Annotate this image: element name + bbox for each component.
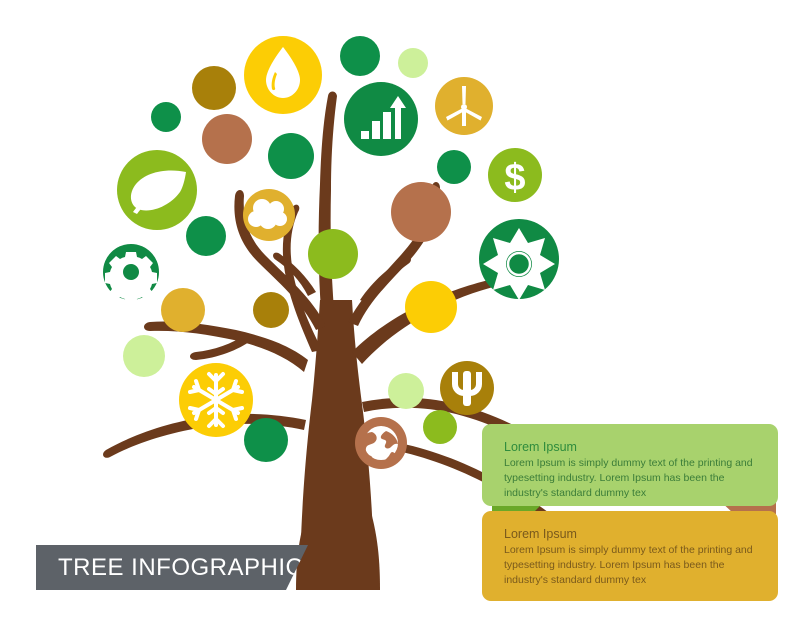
gear-icon — [105, 252, 157, 304]
circle-green-dot-left — [151, 102, 181, 132]
icon-circle-gear — [103, 244, 159, 304]
callout-green-body: Lorem Ipsum is simply dummy text of the … — [504, 456, 756, 501]
icon-circle-growth-chart — [344, 82, 418, 156]
dollar-icon: $ — [504, 157, 525, 199]
circle-olive-center — [308, 229, 358, 279]
circle-green-dot-left-mid — [186, 216, 226, 256]
circle-pale-green-top — [398, 48, 428, 78]
circle-gold-left — [161, 288, 205, 332]
title-banner: TREE INFOGRAPHIC — [36, 545, 308, 590]
icon-circle-water-drop — [244, 36, 322, 114]
icon-circle-snowflake — [179, 363, 253, 437]
title-banner-label: TREE INFOGRAPHIC — [36, 554, 303, 582]
callout-gold[interactable]: Lorem Ipsum Lorem Ipsum is simply dummy … — [482, 511, 778, 601]
icon-circle-leaf — [117, 150, 197, 230]
icon-circle-wind-turbine — [435, 77, 493, 135]
circle-pale-green-left — [123, 335, 165, 377]
callout-green-title: Lorem Ipsum — [504, 440, 756, 454]
circle-green-dot-mid — [437, 150, 471, 184]
circle-tan-mid — [202, 114, 252, 164]
icon-circle-globe — [355, 417, 407, 469]
callout-green[interactable]: Lorem Ipsum Lorem Ipsum is simply dummy … — [482, 424, 778, 506]
circle-yellow-right — [405, 281, 457, 333]
circle-brown-small-upper-left — [192, 66, 236, 110]
infographic-canvas: $ — [0, 0, 800, 623]
circle-green-dot-upper-mid — [268, 133, 314, 179]
circle-pale-green-lower — [388, 373, 424, 409]
callout-gold-title: Lorem Ipsum — [504, 527, 756, 541]
icon-circle-cactus — [440, 361, 494, 415]
icon-circle-dollar: $ — [488, 148, 542, 202]
callout-gold-body: Lorem Ipsum is simply dummy text of the … — [504, 543, 756, 588]
icon-circle-sun — [479, 219, 559, 300]
icon-circle-cloud — [243, 189, 295, 241]
sun-icon — [483, 228, 555, 300]
circle-green-dot-top — [340, 36, 380, 76]
circle-tan-center — [391, 182, 451, 242]
circle-dark-gold-mid — [253, 292, 289, 328]
circle-green-lower-left — [244, 418, 288, 462]
circle-olive-lower — [423, 410, 457, 444]
